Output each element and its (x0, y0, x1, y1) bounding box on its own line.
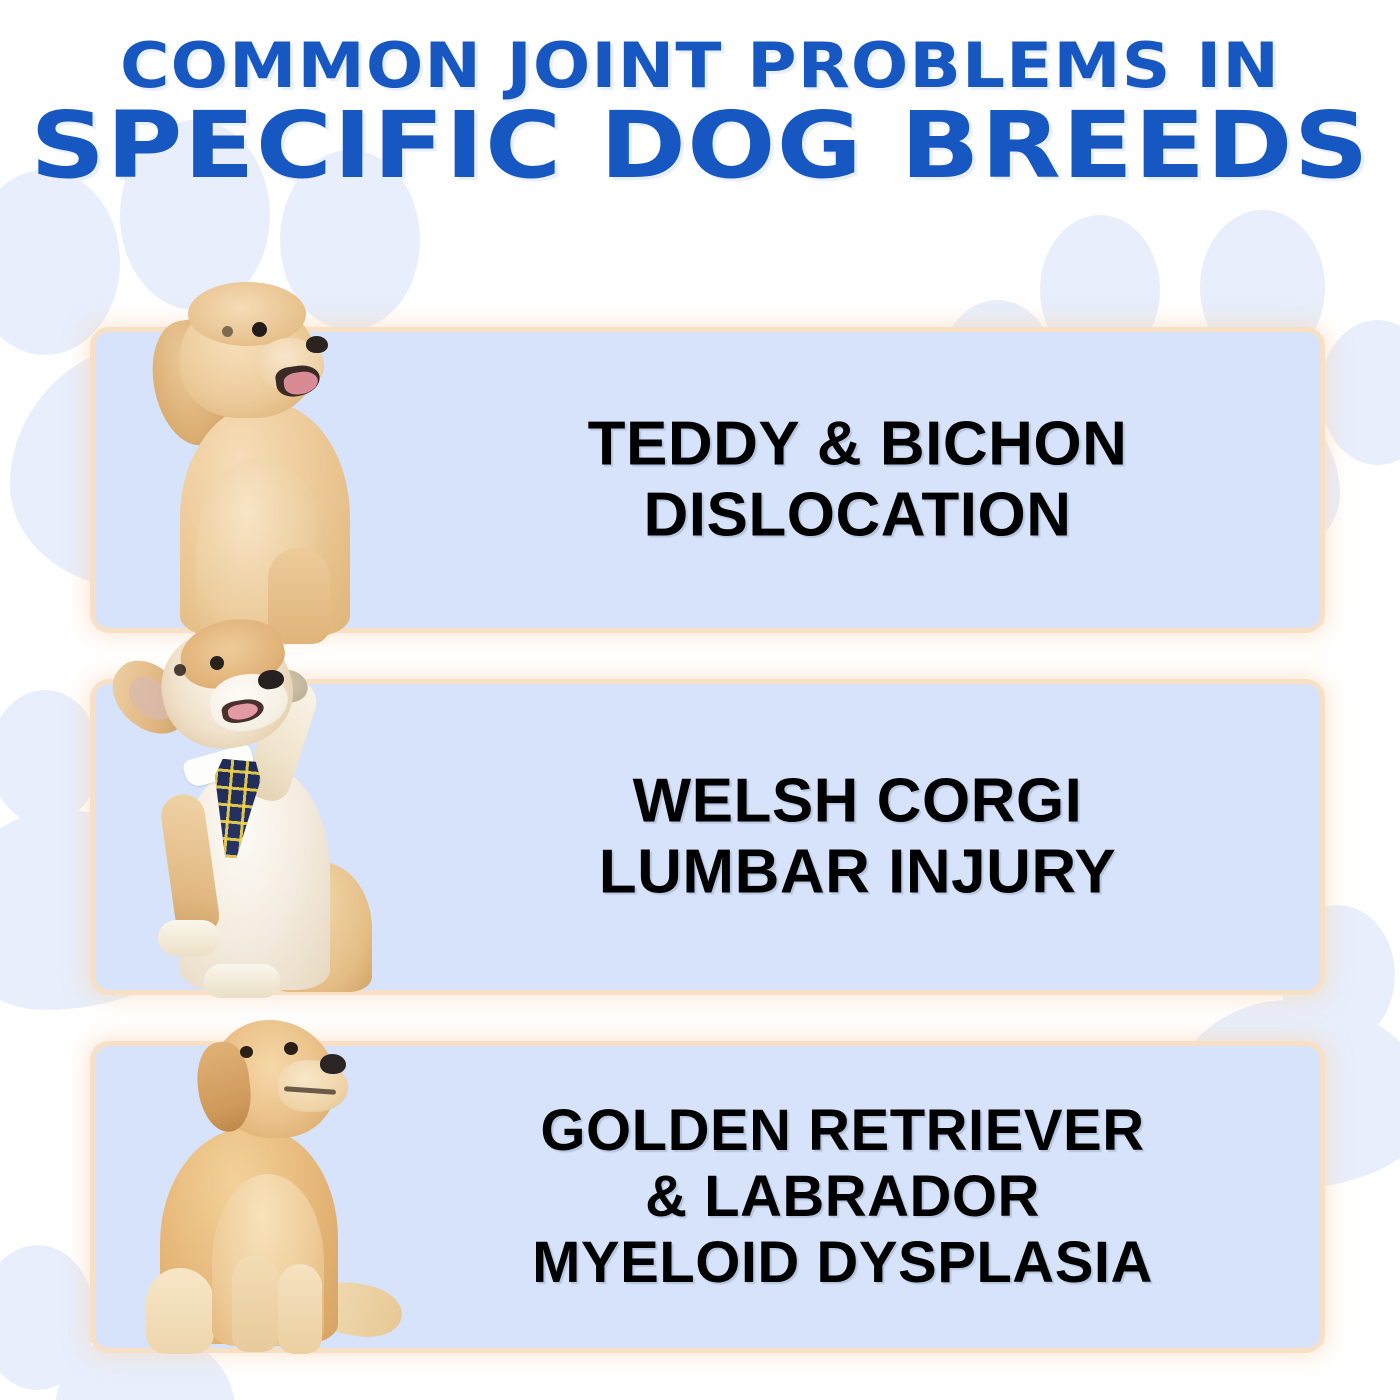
golden-eye (284, 1042, 298, 1055)
poodle-nose (306, 336, 328, 353)
card-golden-labrador-text: GOLDEN RETRIEVER & LABRADOR MYELOID DYSP… (395, 1098, 1290, 1296)
welsh-corgi-with-necktie-photo (62, 612, 392, 1002)
card-welsh-corgi-line-1: WELSH CORGI (425, 766, 1290, 837)
card-teddy-bichon-line-2: DISLOCATION (425, 480, 1290, 551)
golden-front-leg-two (278, 1264, 322, 1354)
golden-front-leg (232, 1256, 278, 1352)
corgi-eye-far (174, 664, 186, 676)
card-golden-labrador-line-2: & LABRADOR (395, 1164, 1290, 1230)
golden-nose (320, 1054, 346, 1074)
golden-retriever-dog-photo (108, 1006, 428, 1350)
card-golden-labrador-line-3: MYELOID DYSPLASIA (395, 1230, 1290, 1296)
poster-title: COMMON JOINT PROBLEMS IN SPECIFIC DOG BR… (0, 36, 1400, 191)
title-line-2: SPECIFIC DOG BREEDS (0, 101, 1400, 191)
corgi-foot-left (158, 920, 220, 956)
paw-toe-icon (1320, 320, 1400, 465)
card-welsh-corgi-text: WELSH CORGI LUMBAR INJURY (425, 766, 1290, 907)
card-teddy-bichon-line-1: TEDDY & BICHON (425, 409, 1290, 480)
corgi-eye (210, 656, 224, 670)
card-teddy-bichon-text: TEDDY & BICHON DISLOCATION (425, 409, 1290, 550)
title-line-1: COMMON JOINT PROBLEMS IN (0, 36, 1400, 97)
paw-toe-icon (0, 1245, 95, 1390)
poodle-topknot (188, 282, 306, 346)
golden-rear-feather (146, 1268, 214, 1354)
golden-eye-far (240, 1046, 253, 1058)
infographic-poster: COMMON JOINT PROBLEMS IN SPECIFIC DOG BR… (0, 0, 1400, 1400)
poodle-eye-far (222, 326, 233, 337)
card-golden-labrador-line-1: GOLDEN RETRIEVER (395, 1098, 1290, 1164)
corgi-foot-right (204, 964, 280, 998)
card-welsh-corgi-line-2: LUMBAR INJURY (425, 837, 1290, 908)
poodle-teddy-dog-photo (118, 262, 418, 634)
poodle-eye (252, 322, 267, 337)
